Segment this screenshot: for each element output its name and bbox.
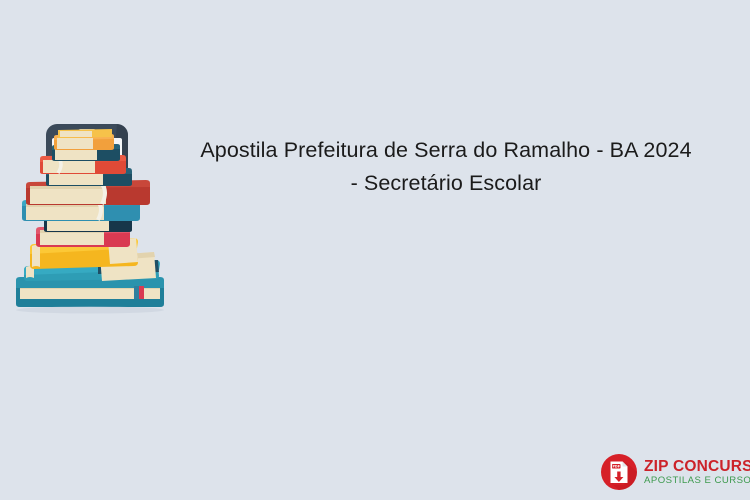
- brand-logo[interactable]: PDF ZIP CONCURSOS APOSTILAS E CURSOS: [600, 450, 744, 494]
- svg-text:PDF: PDF: [612, 465, 620, 469]
- pdf-download-icon: PDF: [600, 453, 638, 491]
- page-title: Apostila Prefeitura de Serra do Ramalho …: [160, 134, 732, 200]
- logo-title: ZIP CONCURSOS: [644, 458, 750, 475]
- title-line-2: - Secretário Escolar: [160, 167, 732, 200]
- title-line-1: Apostila Prefeitura de Serra do Ramalho …: [160, 134, 732, 167]
- books-illustration: [8, 120, 178, 315]
- book-orange-topmost: [58, 129, 112, 138]
- book-bottom-teal: [16, 277, 164, 307]
- logo-text-group: ZIP CONCURSOS APOSTILAS E CURSOS: [644, 458, 750, 487]
- product-banner: Apostila Prefeitura de Serra do Ramalho …: [0, 0, 750, 500]
- logo-subtitle: APOSTILAS E CURSOS: [644, 475, 750, 487]
